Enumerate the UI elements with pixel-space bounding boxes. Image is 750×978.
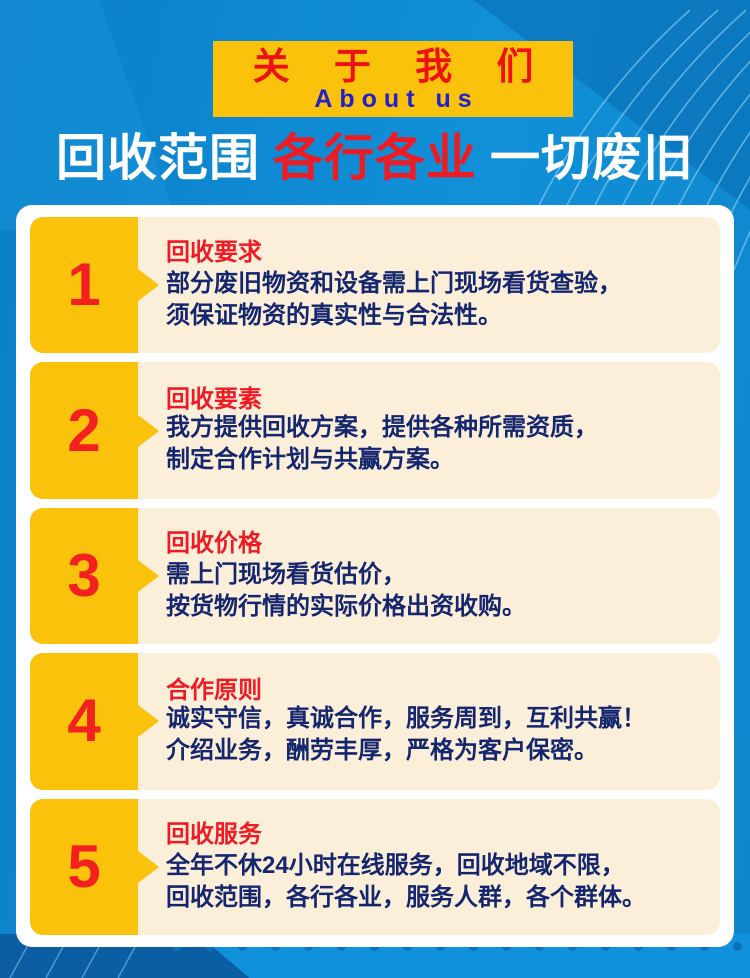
list-item: 3 回收价格 需上门现场看货估价， 按货物行情的实际价格出资收购。	[30, 508, 720, 644]
item-number: 1	[67, 255, 100, 315]
about-banner-title-en: About us	[213, 86, 573, 114]
page-headline: 回收范围各行各业一切废旧	[0, 130, 750, 186]
about-us-poster: 关 于 我 们 About us 回收范围各行各业一切废旧 1 回收要求 部分废…	[0, 0, 750, 978]
list-item: 4 合作原则 诚实守信，真诚合作，服务周到，互利共赢！ 介绍业务，酬劳丰厚，严格…	[30, 653, 720, 789]
item-number-badge: 3	[30, 508, 138, 644]
item-number: 2	[67, 401, 100, 461]
item-number-badge: 4	[30, 653, 138, 789]
list-item: 5 回收服务 全年不休24小时在线服务，回收地域不限， 回收范围，各行各业，服务…	[30, 799, 720, 935]
item-number-badge: 1	[30, 217, 138, 353]
item-body: 回收价格 需上门现场看货估价， 按货物行情的实际价格出资收购。	[138, 508, 720, 644]
arrow-right-icon	[138, 705, 159, 737]
arrow-right-icon	[138, 851, 159, 883]
item-title: 合作原则	[166, 676, 706, 705]
item-number-badge: 2	[30, 362, 138, 498]
item-number-badge: 5	[30, 799, 138, 935]
item-line: 介绍业务，酬劳丰厚，严格为客户保密。	[166, 735, 706, 767]
items-list: 1 回收要求 部分废旧物资和设备需上门现场看货查验， 须保证物资的真实性与合法性…	[30, 217, 720, 935]
item-body: 回收要素 我方提供回收方案，提供各种所需资质， 制定合作计划与共赢方案。	[138, 362, 720, 498]
item-line: 按货物行情的实际价格出资收购。	[166, 591, 706, 623]
item-body: 回收要求 部分废旧物资和设备需上门现场看货查验， 须保证物资的真实性与合法性。	[138, 217, 720, 353]
about-banner: 关 于 我 们 About us	[213, 41, 573, 117]
about-banner-title-cn: 关 于 我 们	[213, 44, 573, 90]
headline-part-3: 一切废旧	[490, 130, 694, 186]
content-card: 1 回收要求 部分废旧物资和设备需上门现场看货查验， 须保证物资的真实性与合法性…	[16, 205, 734, 947]
item-number: 3	[67, 546, 100, 606]
arrow-right-icon	[138, 415, 159, 447]
arrow-right-icon	[138, 560, 159, 592]
item-body: 合作原则 诚实守信，真诚合作，服务周到，互利共赢！ 介绍业务，酬劳丰厚，严格为客…	[138, 653, 720, 789]
list-item: 2 回收要素 我方提供回收方案，提供各种所需资质， 制定合作计划与共赢方案。	[30, 362, 720, 498]
item-line: 我方提供回收方案，提供各种所需资质，	[166, 412, 706, 444]
item-number: 5	[67, 837, 100, 897]
item-line: 须保证物资的真实性与合法性。	[166, 300, 706, 332]
headline-part-2: 各行各业	[273, 130, 477, 186]
item-title: 回收价格	[166, 529, 706, 558]
item-line: 全年不休24小时在线服务，回收地域不限，	[166, 850, 706, 882]
item-line: 诚实守信，真诚合作，服务周到，互利共赢！	[166, 703, 706, 735]
item-line: 回收范围，各行各业，服务人群，各个群体。	[166, 882, 706, 914]
item-title: 回收服务	[166, 820, 706, 849]
item-line: 制定合作计划与共赢方案。	[166, 444, 706, 476]
headline-part-1: 回收范围	[56, 130, 260, 186]
arrow-right-icon	[138, 269, 159, 301]
item-number: 4	[67, 691, 100, 751]
list-item: 1 回收要求 部分废旧物资和设备需上门现场看货查验， 须保证物资的真实性与合法性…	[30, 217, 720, 353]
item-line: 需上门现场看货估价，	[166, 559, 706, 591]
item-title: 回收要求	[166, 238, 706, 267]
item-body: 回收服务 全年不休24小时在线服务，回收地域不限， 回收范围，各行各业，服务人群…	[138, 799, 720, 935]
item-title: 回收要素	[166, 385, 706, 414]
item-line: 部分废旧物资和设备需上门现场看货查验，	[166, 268, 706, 300]
